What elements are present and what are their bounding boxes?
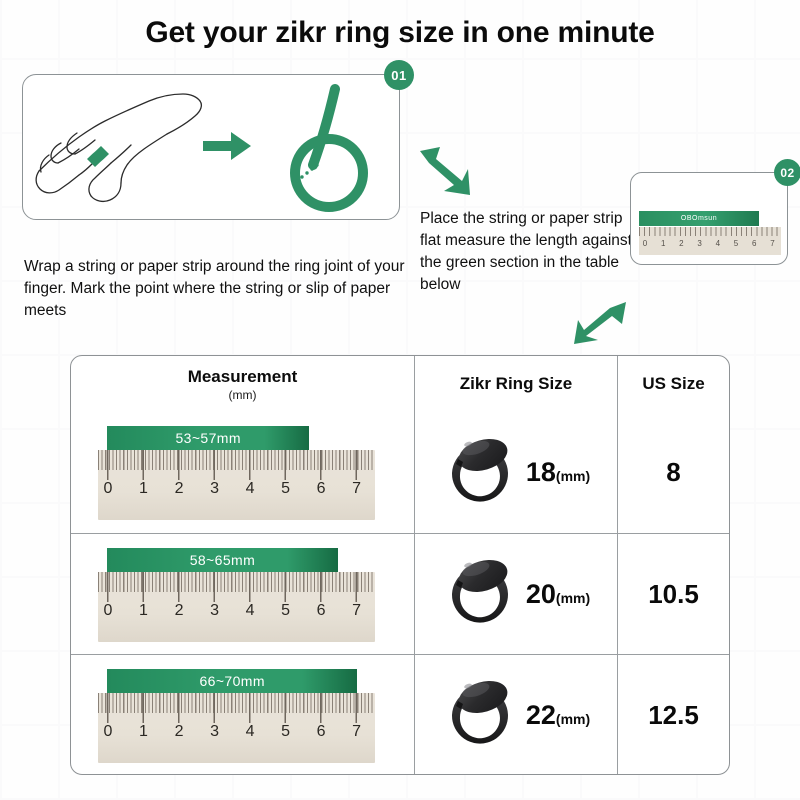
- string-loop-illustration-icon: [263, 81, 387, 219]
- cell-us-size: 8: [617, 412, 729, 533]
- ruler-tick-label: 1: [139, 602, 148, 620]
- cell-measurement: 0123456766~70mm: [71, 655, 414, 775]
- page-title: Get your zikr ring size in one minute: [0, 16, 800, 50]
- ruler-tick-label: 5: [281, 480, 290, 498]
- mini-ruler-tick-label: 5: [734, 239, 738, 248]
- ruler-tick-label: 4: [246, 723, 255, 741]
- header-measurement: Measurement (mm): [71, 356, 414, 412]
- step-2-caption: Place the string or paper strip flat mea…: [420, 208, 640, 296]
- mini-ruler-tick-label: 3: [697, 239, 701, 248]
- ruler-body: 01234567: [98, 572, 375, 642]
- header-measurement-unit: (mm): [229, 388, 257, 402]
- ruler-tick-label: 4: [246, 602, 255, 620]
- ruler-body: 01234567: [98, 693, 375, 763]
- ruler-body: 01234567: [98, 450, 375, 520]
- zikr-ring-icon: [442, 431, 520, 515]
- cell-ring-size: 22(mm): [414, 655, 617, 775]
- ring-size-value: 22(mm): [526, 700, 590, 731]
- header-ring-size: Zikr Ring Size: [414, 356, 617, 412]
- header-us-size: US Size: [617, 356, 729, 412]
- table-row: 0123456753~57mm 18(mm)8: [71, 412, 729, 533]
- ruler-major-ticks: [107, 572, 375, 602]
- mini-ruler-numbers: 01234567: [639, 236, 781, 255]
- zikr-ring-icon: [442, 673, 520, 757]
- table-header-row: Measurement (mm) Zikr Ring Size US Size: [71, 356, 729, 412]
- ruler-tick-label: 3: [210, 602, 219, 620]
- ruler: 0123456753~57mm: [98, 426, 375, 520]
- ruler-tick-label: 3: [210, 723, 219, 741]
- ruler-tick-label: 6: [317, 480, 326, 498]
- ruler-tick-label: 0: [104, 723, 113, 741]
- ruler-major-ticks: [107, 450, 375, 480]
- mini-ruler-tick-label: 6: [752, 239, 756, 248]
- step-2-panel: 02 01234567 OBOmsun: [630, 172, 788, 265]
- mini-ruler-ticks: [639, 227, 781, 236]
- ring-size-unit: (mm): [556, 711, 590, 727]
- mini-ruler-tick-label: 2: [679, 239, 683, 248]
- ruler: 0123456758~65mm: [98, 548, 375, 642]
- table-row: 0123456758~65mm 20(mm)10.5: [71, 533, 729, 654]
- header-measurement-label: Measurement: [188, 367, 298, 387]
- ring-size-guide-page: Get your zikr ring size in one minute 01: [0, 0, 800, 800]
- mini-green-strip: OBOmsun: [639, 211, 759, 226]
- mini-ruler: 01234567 OBOmsun: [639, 211, 781, 255]
- ruler-major-ticks: [107, 693, 375, 723]
- step-1-badge: 01: [384, 60, 414, 90]
- mini-ruler-body: 01234567: [639, 227, 781, 255]
- table-row: 0123456766~70mm 22(mm)12.5: [71, 654, 729, 775]
- ruler-tick-label: 2: [175, 480, 184, 498]
- ruler-tick-label: 2: [175, 723, 184, 741]
- ruler-tick-label: 0: [104, 480, 113, 498]
- step-1-panel: 01: [22, 74, 400, 220]
- ruler-tick-label: 4: [246, 480, 255, 498]
- ring-size-unit: (mm): [556, 468, 590, 484]
- ruler-tick-label: 5: [281, 723, 290, 741]
- ruler-tick-label: 2: [175, 602, 184, 620]
- cell-measurement: 0123456758~65mm: [71, 534, 414, 654]
- ruler-tick-label: 0: [104, 602, 113, 620]
- cell-us-size: 12.5: [617, 655, 729, 775]
- ring-size-unit: (mm): [556, 590, 590, 606]
- arrow-down-left-icon: [572, 294, 630, 346]
- ruler-tick-label: 7: [352, 480, 361, 498]
- measurement-range-strip: 66~70mm: [107, 669, 357, 693]
- cell-measurement: 0123456753~57mm: [71, 412, 414, 533]
- header-ring-size-label: Zikr Ring Size: [460, 374, 572, 394]
- ruler-numbers: 01234567: [98, 480, 375, 506]
- mini-ruler-tick-label: 4: [716, 239, 720, 248]
- ruler-numbers: 01234567: [98, 723, 375, 749]
- mini-ruler-tick-label: 7: [770, 239, 774, 248]
- ruler-tick-label: 3: [210, 480, 219, 498]
- ring-size-value: 18(mm): [526, 457, 590, 488]
- cell-us-size: 10.5: [617, 534, 729, 654]
- cell-ring-size: 20(mm): [414, 534, 617, 654]
- step-2-badge: 02: [774, 159, 800, 186]
- ruler-tick-label: 6: [317, 723, 326, 741]
- us-size-value: 8: [666, 457, 680, 488]
- ruler-tick-label: 7: [352, 602, 361, 620]
- ruler-tick-label: 1: [139, 723, 148, 741]
- arrow-right-icon: [201, 130, 253, 162]
- step-1-caption: Wrap a string or paper strip around the …: [24, 256, 414, 322]
- ruler-tick-label: 1: [139, 480, 148, 498]
- mini-ruler-tick-label: 0: [643, 239, 647, 248]
- size-table: Measurement (mm) Zikr Ring Size US Size …: [70, 355, 730, 775]
- ruler-tick-label: 7: [352, 723, 361, 741]
- ruler: 0123456766~70mm: [98, 669, 375, 763]
- us-size-value: 10.5: [648, 579, 699, 610]
- measurement-range-strip: 53~57mm: [107, 426, 309, 450]
- zikr-ring-icon: [442, 552, 520, 636]
- hand-illustration-icon: [31, 85, 211, 213]
- measurement-range-strip: 58~65mm: [107, 548, 338, 572]
- ring-size-value: 20(mm): [526, 579, 590, 610]
- mini-ruler-tick-label: 1: [661, 239, 665, 248]
- ruler-tick-label: 6: [317, 602, 326, 620]
- arrow-down-right-icon: [416, 141, 474, 199]
- ruler-tick-label: 5: [281, 602, 290, 620]
- us-size-value: 12.5: [648, 700, 699, 731]
- header-us-size-label: US Size: [642, 374, 704, 394]
- cell-ring-size: 18(mm): [414, 412, 617, 533]
- ruler-numbers: 01234567: [98, 602, 375, 628]
